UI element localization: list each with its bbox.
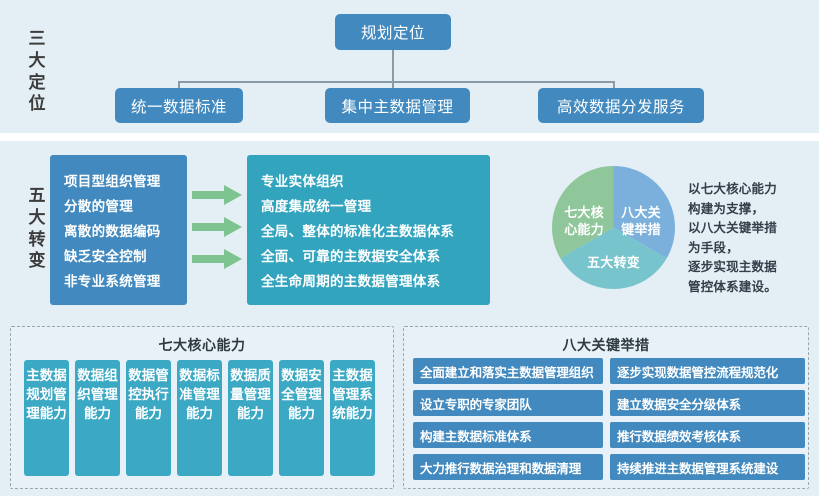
capability-card[interactable]: 数据组织管理能力	[75, 360, 120, 476]
from-item: 缺乏安全控制	[64, 244, 187, 269]
measure-bar[interactable]: 设立专职的专家团队	[413, 390, 603, 416]
connector-root-stem	[392, 50, 394, 82]
measure-bar[interactable]: 持续推进主数据管理系统建设	[610, 454, 805, 480]
node-child-3[interactable]: 高效数据分发服务	[538, 88, 704, 123]
label-char: 变	[20, 250, 54, 272]
arrow-right-icon	[192, 185, 242, 205]
label-char: 大	[20, 50, 54, 72]
measure-bar[interactable]: 建立数据安全分级体系	[610, 390, 805, 416]
measure-bar[interactable]: 全面建立和落实主数据管理组织	[413, 358, 603, 384]
to-item: 全生命周期的主数据管理体系	[261, 269, 490, 294]
to-item: 全局、整体的标准化主数据体系	[261, 219, 490, 244]
to-item: 高度集成统一管理	[261, 194, 490, 219]
note-line: 以七大核心能力	[688, 180, 816, 200]
label-char: 三	[20, 28, 54, 50]
section-bottom-groups: 七大核心能力 主数据规划管理能力 数据组织管理能力 数据管控执行能力 数据标准管…	[0, 319, 819, 496]
measure-bar-grid: 全面建立和落实主数据管理组织 逐步实现数据管控流程规范化 设立专职的专家团队 建…	[413, 358, 805, 480]
pie-label-line: 五大转变	[582, 254, 645, 271]
label-char: 大	[20, 207, 54, 229]
label-char: 定	[20, 72, 54, 94]
pie-label-line: 键举措	[615, 221, 667, 238]
arrow-right-icon	[192, 217, 242, 237]
pie-label-line: 心能力	[558, 221, 610, 238]
measure-bar[interactable]: 逐步实现数据管控流程规范化	[610, 358, 805, 384]
pie-label-line: 八大关	[615, 204, 667, 221]
note-line: 为手段，	[688, 239, 816, 259]
section-divider	[0, 133, 819, 141]
from-item: 非专业系统管理	[64, 269, 187, 294]
transformation-arrows	[192, 155, 244, 305]
pie-label-measures: 八大关 键举措	[615, 204, 667, 238]
node-root[interactable]: 规划定位	[335, 14, 451, 50]
measures-group: 八大关键举措 全面建立和落实主数据管理组织 逐步实现数据管控流程规范化 设立专职…	[403, 326, 809, 489]
capabilities-group: 七大核心能力 主数据规划管理能力 数据组织管理能力 数据管控执行能力 数据标准管…	[10, 326, 394, 489]
node-child-2[interactable]: 集中主数据管理	[325, 88, 470, 123]
node-child-1[interactable]: 统一数据标准	[115, 88, 243, 123]
pie-label-capabilities: 七大核 心能力	[558, 204, 610, 238]
label-char: 五	[20, 185, 54, 207]
note-line: 以八大关键举措	[688, 219, 816, 239]
capabilities-title: 七大核心能力	[11, 335, 393, 355]
infographic-page: 三 大 定 位 规划定位 统一数据标准 集中主数据管理 高效数据分发服务 五 大…	[0, 0, 819, 496]
capability-card-row: 主数据规划管理能力 数据组织管理能力 数据管控执行能力 数据标准管理能力 数据质…	[24, 360, 375, 476]
pie-label-line: 七大核	[558, 204, 610, 221]
arrow-right-icon	[192, 249, 242, 269]
note-line: 逐步实现主数据	[688, 258, 816, 278]
label-char: 转	[20, 229, 54, 251]
capability-card[interactable]: 数据安全管理能力	[279, 360, 324, 476]
measure-bar[interactable]: 推行数据绩效考核体系	[610, 422, 805, 448]
from-item: 离散的数据编码	[64, 219, 187, 244]
connector-bus	[178, 81, 614, 83]
capability-card[interactable]: 数据标准管理能力	[177, 360, 222, 476]
note-line: 构建为支撑，	[688, 200, 816, 220]
measure-bar[interactable]: 构建主数据标准体系	[413, 422, 603, 448]
capability-card[interactable]: 数据管控执行能力	[126, 360, 171, 476]
from-item: 项目型组织管理	[64, 169, 187, 194]
label-char: 位	[20, 93, 54, 115]
measure-bar[interactable]: 大力推行数据治理和数据清理	[413, 454, 603, 480]
strategy-summary-note: 以七大核心能力 构建为支撑， 以八大关键举措 为手段， 逐步实现主数据 管控体系…	[688, 180, 816, 297]
section-transformation-label: 五 大 转 变	[20, 185, 54, 272]
capability-card[interactable]: 主数据管理系统能力	[330, 360, 375, 476]
pie-label-transformation: 五大转变	[582, 254, 645, 271]
capability-card[interactable]: 数据质量管理能力	[228, 360, 273, 476]
section-positioning-label: 三 大 定 位	[20, 28, 54, 115]
strategy-pie-chart: 七大核 心能力 八大关 键举措 五大转变	[552, 166, 675, 289]
section-positioning: 三 大 定 位 规划定位 统一数据标准 集中主数据管理 高效数据分发服务	[0, 0, 819, 133]
measures-title: 八大关键举措	[404, 335, 808, 355]
from-item: 分散的管理	[64, 194, 187, 219]
transformation-to-panel: 专业实体组织 高度集成统一管理 全局、整体的标准化主数据体系 全面、可靠的主数据…	[247, 155, 490, 305]
note-line: 管控体系建设。	[688, 278, 816, 298]
to-item: 全面、可靠的主数据安全体系	[261, 244, 490, 269]
transformation-from-panel: 项目型组织管理 分散的管理 离散的数据编码 缺乏安全控制 非专业系统管理	[50, 155, 187, 305]
capability-card[interactable]: 主数据规划管理能力	[24, 360, 69, 476]
to-item: 专业实体组织	[261, 169, 490, 194]
